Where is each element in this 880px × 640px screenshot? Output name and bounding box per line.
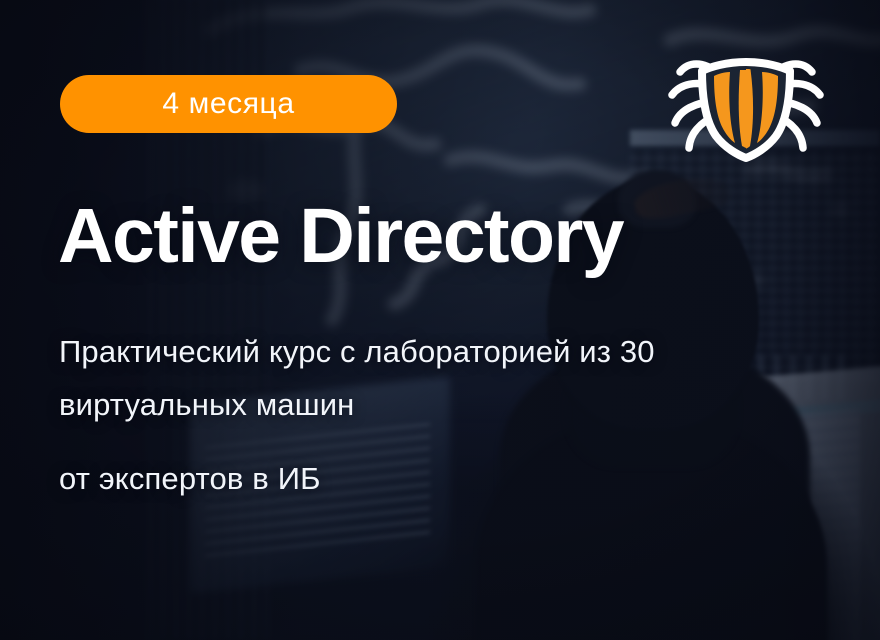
banner-content: 4 месяца [0, 0, 880, 640]
course-description-line-3: от экспертов в ИБ [59, 452, 799, 505]
course-description-line-1: Практический курс с лабораторией из 30 [59, 325, 799, 378]
page-title: Active Directory [58, 198, 623, 275]
course-promo-banner: 4 месяца [0, 0, 880, 640]
course-description: Практический курс с лабораторией из 30 в… [59, 325, 799, 505]
duration-badge-label: 4 месяца [162, 89, 294, 119]
duration-badge[interactable]: 4 месяца [60, 75, 397, 133]
course-description-line-2: виртуальных машин [59, 378, 799, 431]
beetle-shield-logo [668, 50, 824, 162]
